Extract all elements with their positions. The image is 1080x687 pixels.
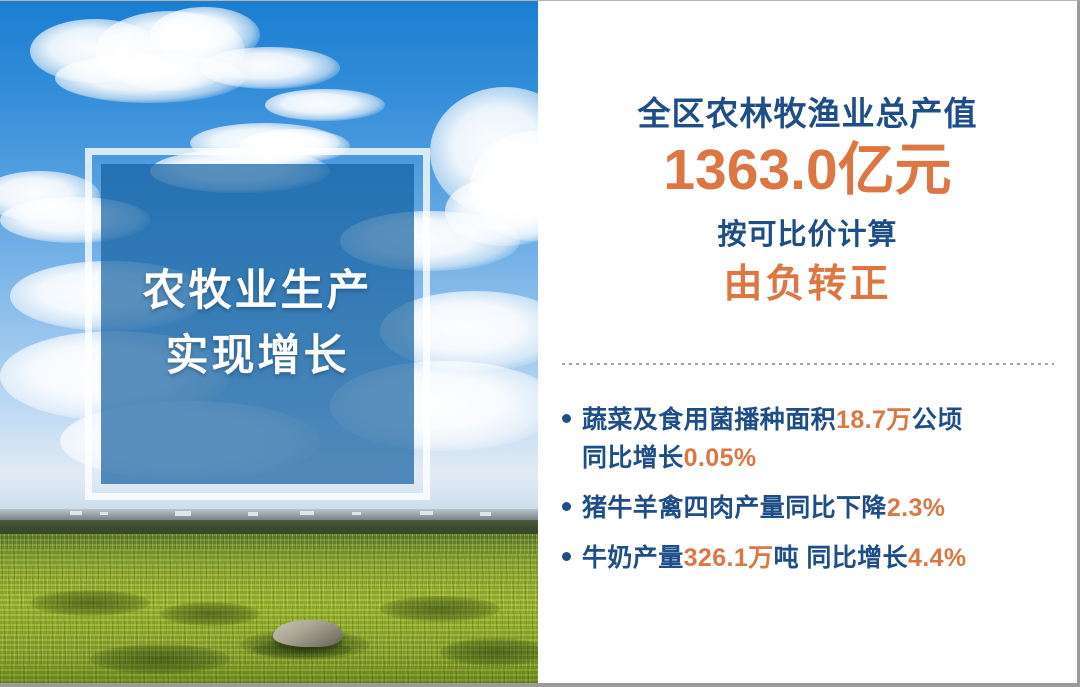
list-item: 猪牛羊禽四肉产量同比下降2.3%	[562, 489, 1062, 527]
bullet-dot-icon	[562, 502, 571, 511]
bullet-dot-icon	[562, 414, 571, 423]
list-item: 蔬菜及食用菌播种面积18.7万公顷同比增长0.05%	[562, 401, 1062, 477]
overlay-title-line-1: 农牧业生产	[143, 259, 373, 324]
bullet-text: 猪牛羊禽四肉产量同比下降2.3%	[582, 489, 945, 527]
bullet-text: 蔬菜及食用菌播种面积18.7万公顷同比增长0.05%	[582, 401, 963, 477]
headline-block: 全区农林牧渔业总产值 1363.0亿元 按可比价计算 由负转正	[538, 93, 1077, 311]
headline-subtitle: 按可比价计算	[538, 217, 1077, 255]
grass-shadow-patch	[30, 590, 150, 616]
overlay-title-inner: 农牧业生产 实现增长	[101, 164, 414, 484]
photo-panel: 农牧业生产 实现增长	[0, 1, 538, 687]
headline-accent: 由负转正	[538, 260, 1077, 311]
bullet-dot-icon	[562, 552, 571, 561]
grass-field	[0, 534, 538, 687]
list-item: 牛奶产量326.1万吨 同比增长4.4%	[562, 539, 1062, 577]
dotted-divider	[562, 363, 1054, 365]
rock	[273, 620, 343, 647]
distant-buildings	[0, 510, 538, 518]
overlay-title-line-2: 实现增长	[166, 324, 350, 389]
grass-shadow-patch	[90, 644, 230, 674]
infographic-poster: 农牧业生产 实现增长 全区农林牧渔业总产值 1363.0亿元 按可比价计算 由负…	[0, 0, 1080, 687]
bullet-list: 蔬菜及食用菌播种面积18.7万公顷同比增长0.05% 猪牛羊禽四肉产量同比下降2…	[562, 401, 1062, 589]
grass-shadow-patch	[160, 602, 260, 626]
bullet-text: 牛奶产量326.1万吨 同比增长4.4%	[582, 539, 967, 577]
info-panel: 全区农林牧渔业总产值 1363.0亿元 按可比价计算 由负转正 蔬菜及食用菌播种…	[538, 1, 1077, 687]
headline-figure: 1363.0亿元	[538, 136, 1077, 204]
grass-shadow-patch	[380, 596, 500, 622]
headline-title: 全区农林牧渔业总产值	[538, 93, 1077, 134]
overlay-title-card: 农牧业生产 实现增长	[85, 148, 430, 500]
